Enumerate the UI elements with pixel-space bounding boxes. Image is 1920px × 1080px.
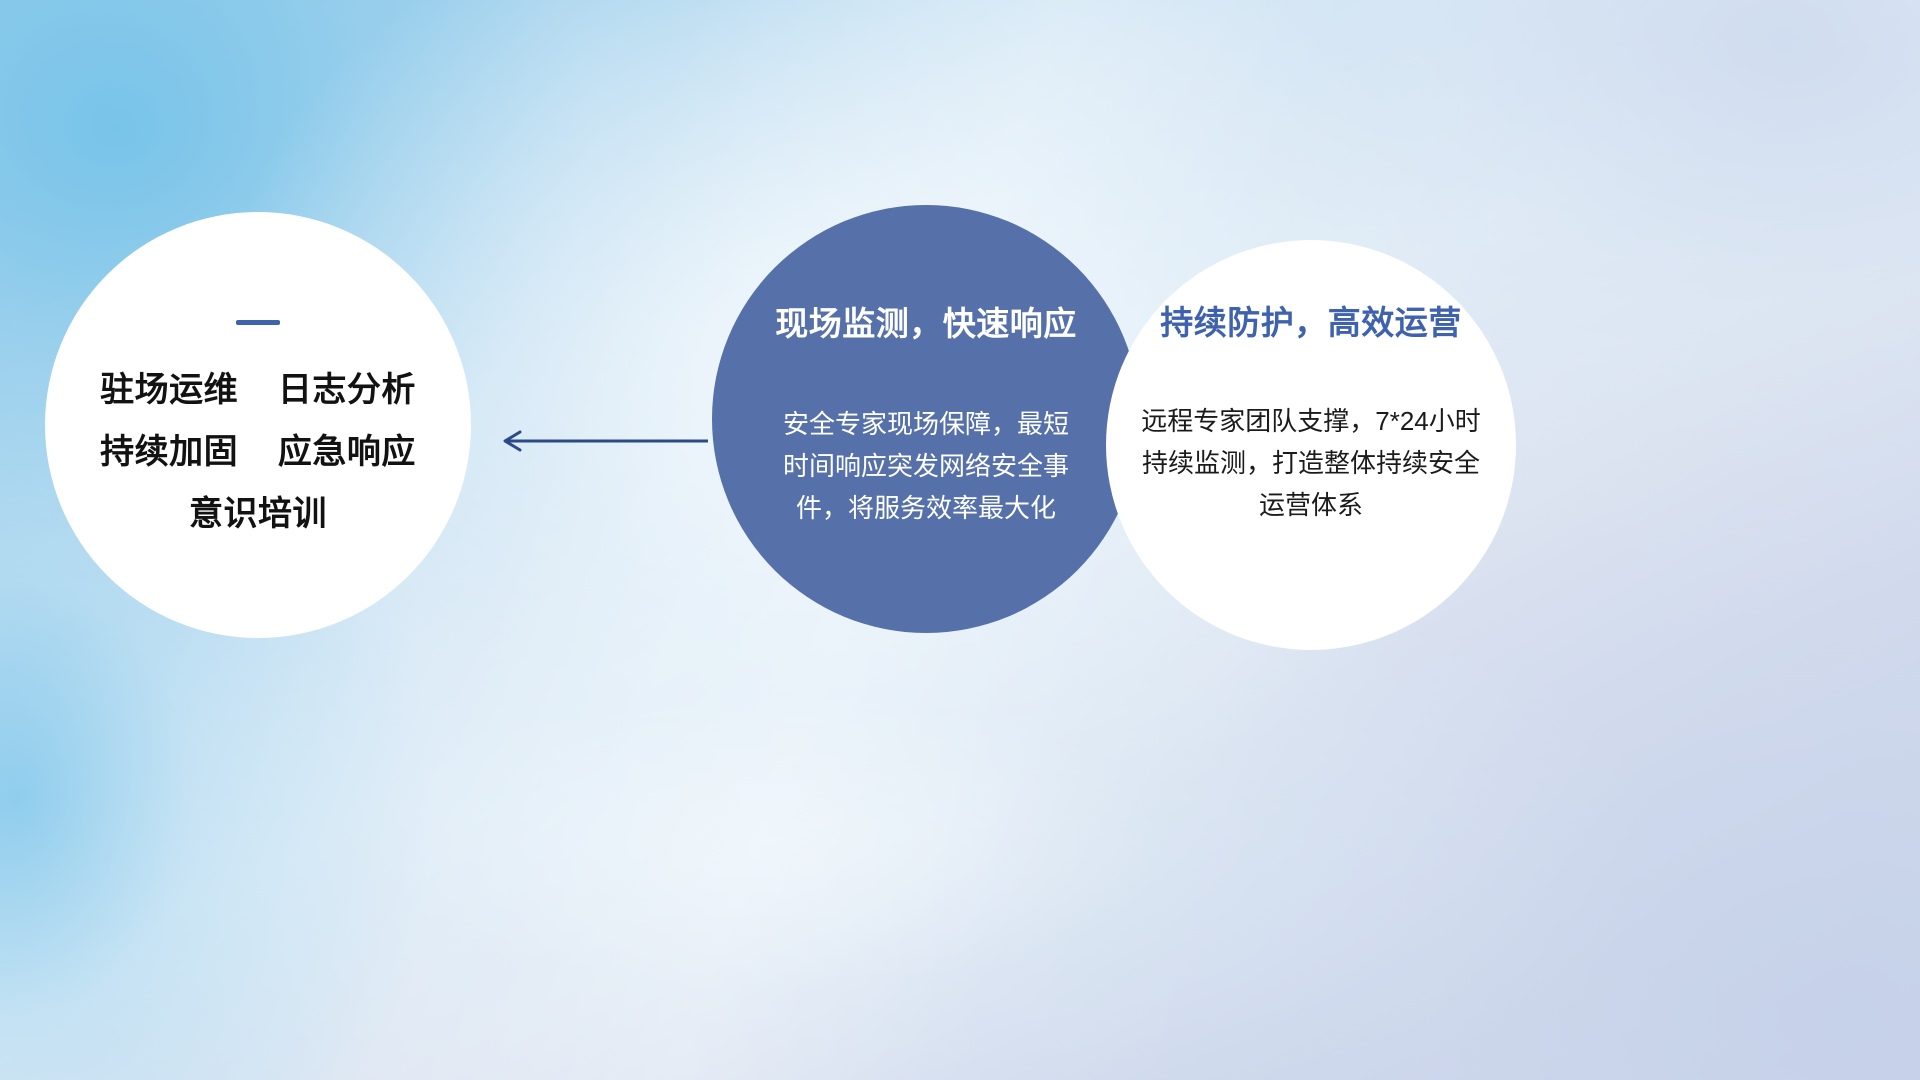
divider-dash [236,320,280,325]
right-circle-content: 持续防护，高效运营 远程专家团队支撑，7*24小时持续监测，打造整体持续安全运营… [1106,240,1516,650]
right-circle-body: 远程专家团队支撑，7*24小时持续监测，打造整体持续安全运营体系 [1131,400,1491,526]
connector-arrow [494,428,709,454]
infographic-slide: 驻场运维 日志分析 持续加固 应急响应 意识培训 现场监测，快速响应 安全专家现… [0,0,1920,1080]
middle-circle-body: 安全专家现场保障，最短时间响应突发网络安全事件，将服务效率最大化 [783,403,1069,529]
left-circle-content: 驻场运维 日志分析 持续加固 应急响应 意识培训 [45,212,471,638]
middle-circle-title: 现场监测，快速响应 [775,297,1077,345]
left-circle-line-3: 意识培训 [189,497,327,531]
right-circle-title: 持续防护，高效运营 [1160,296,1462,344]
arrow-left-icon [494,428,709,454]
middle-circle-content: 现场监测，快速响应 安全专家现场保障，最短时间响应突发网络安全事件，将服务效率最… [712,205,1140,633]
left-circle-line-2: 持续加固 应急响应 [100,435,416,469]
left-circle-line-1: 驻场运维 日志分析 [100,373,416,407]
